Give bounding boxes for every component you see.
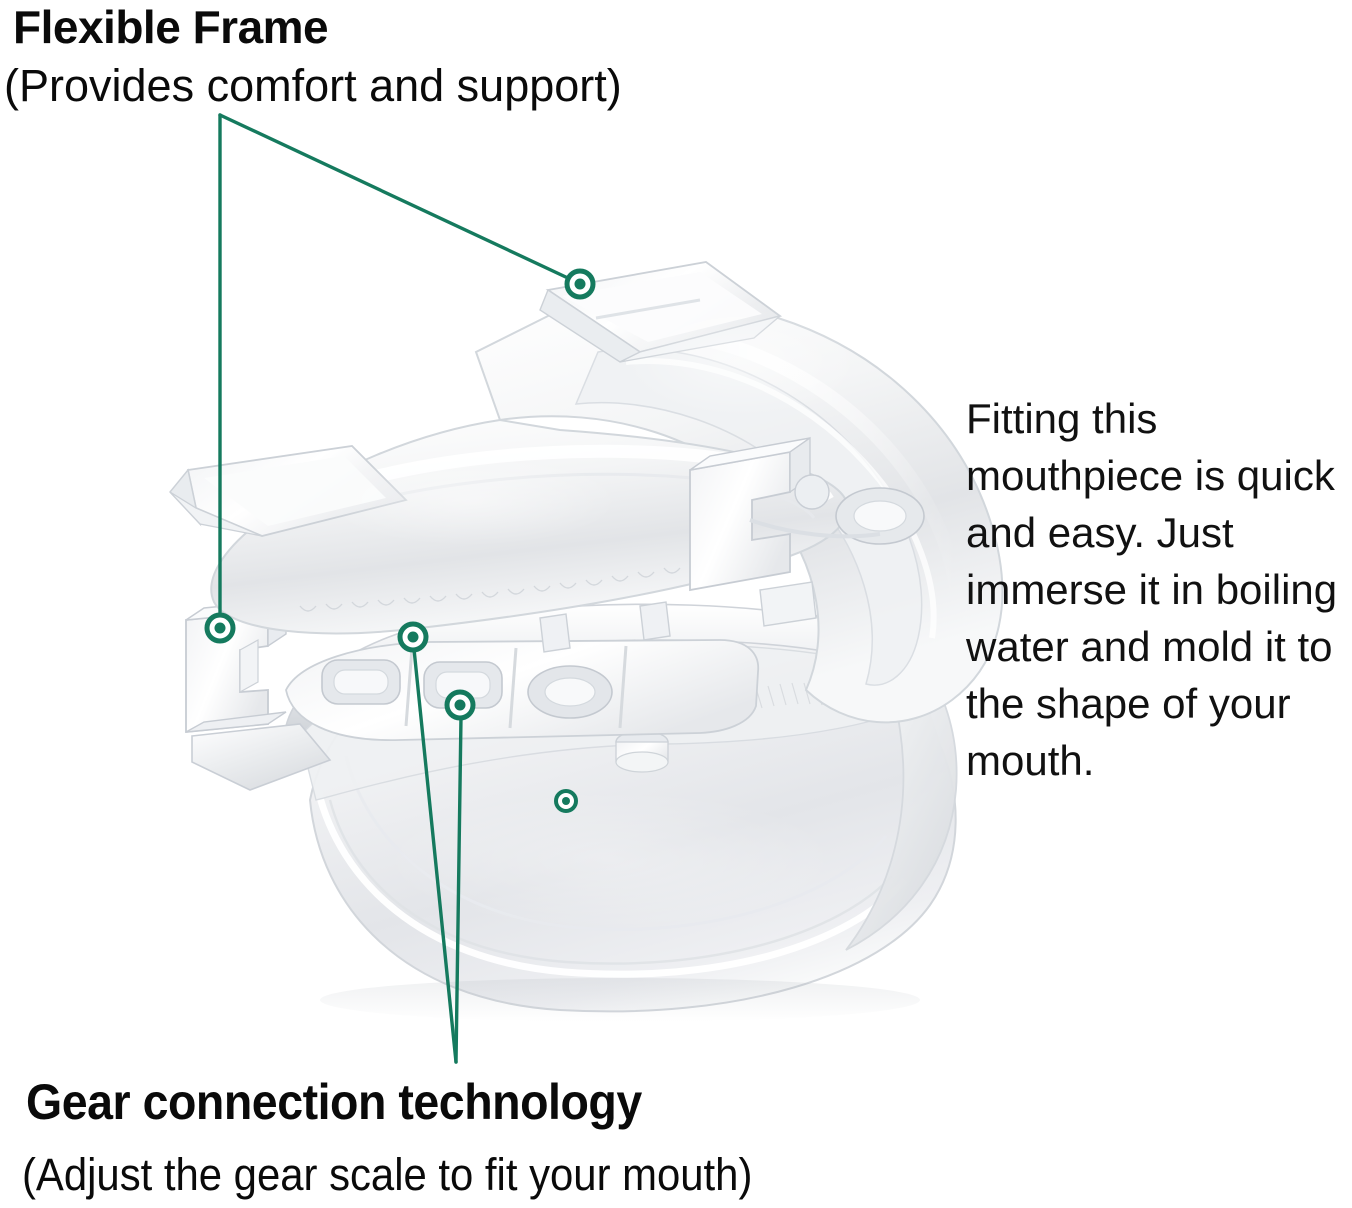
product-infographic: Flexible Frame (Provides comfort and sup… xyxy=(0,0,1352,1208)
gear-mechanism-lower xyxy=(286,640,758,740)
fitting-instructions-paragraph: Fitting this mouthpiece is quick and eas… xyxy=(966,390,1352,789)
flexible-frame-title: Flexible Frame xyxy=(13,4,328,50)
lower-tray-post xyxy=(616,731,668,772)
gear-connection-title: Gear connection technology xyxy=(26,1077,642,1127)
gear-connection-subtitle: (Adjust the gear scale to fit your mouth… xyxy=(22,1152,752,1197)
flexible-frame-subtitle: (Provides comfort and support) xyxy=(4,63,622,108)
